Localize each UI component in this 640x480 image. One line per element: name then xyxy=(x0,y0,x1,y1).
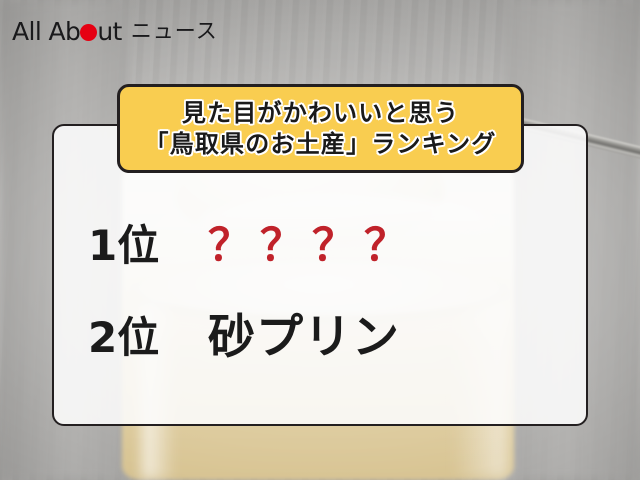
title-banner-line-2: 「鳥取県のお土産」ランキング xyxy=(144,130,496,158)
rank-label-1: 1位 xyxy=(88,225,208,267)
slide-root: All Ab ut ニュース 見た目がかわいいと思う 「鳥取県のお土産」ランキン… xyxy=(0,0,640,480)
logo-text-ut: ut xyxy=(97,19,121,44)
ranking-row-1: 1位 ？？？？ xyxy=(88,224,416,268)
logo-text-allab: All Ab xyxy=(12,19,80,44)
title-banner: 見た目がかわいいと思う 「鳥取県のお土産」ランキング xyxy=(117,84,524,173)
logo-wordmark: All Ab ut xyxy=(12,19,122,44)
rank-label-2: 2位 xyxy=(88,317,208,359)
rank-value-2: 砂プリン xyxy=(208,314,400,361)
red-circle-icon xyxy=(80,24,97,41)
title-banner-line-1: 見た目がかわいいと思う xyxy=(182,99,459,127)
rank-value-1: ？？？？ xyxy=(208,224,416,268)
ranking-row-2: 2位 砂プリン xyxy=(88,314,400,361)
logo-text-news-jp: ニュース xyxy=(131,21,218,42)
brand-logo: All Ab ut ニュース xyxy=(12,19,218,44)
